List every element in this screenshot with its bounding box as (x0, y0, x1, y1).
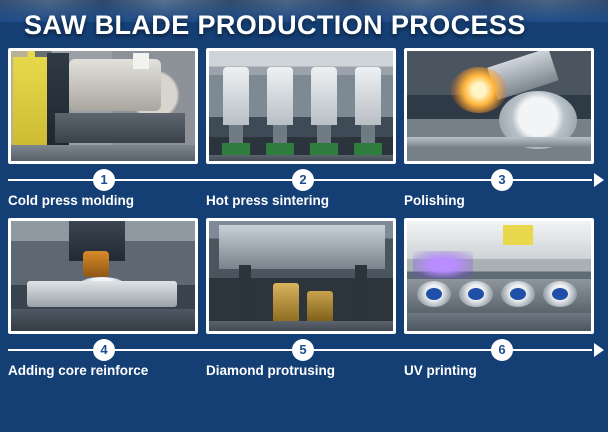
page-title: SAW BLADE PRODUCTION PROCESS (24, 10, 526, 40)
step-cell-6 (404, 218, 594, 334)
polishing-photo (404, 48, 594, 164)
step-cell-4 (8, 218, 198, 334)
step-label-4: Adding core reinforce (8, 363, 198, 378)
arrow-head-icon (594, 173, 604, 187)
step-label-1: Cold press molding (8, 193, 198, 208)
step-number-2: 2 (292, 169, 314, 191)
adding-core-reinforce-photo (8, 218, 198, 334)
step-cell-5 (206, 218, 396, 334)
diamond-protrusing-photo (206, 218, 396, 334)
arrow-head-icon (594, 343, 604, 357)
uv-printing-photo (404, 218, 594, 334)
process-arrow-row-2: 4 5 6 (0, 339, 608, 361)
process-arrow-row-1: 1 2 3 (0, 169, 608, 191)
step-number-1: 1 (93, 169, 115, 191)
label-row-1: Cold press molding Hot press sintering P… (0, 191, 608, 208)
step-label-cell-6: UV printing (404, 361, 594, 378)
photo-row-2 (0, 218, 608, 334)
step-number-5: 5 (292, 339, 314, 361)
step-label-cell-4: Adding core reinforce (8, 361, 198, 378)
step-number-4: 4 (93, 339, 115, 361)
step-number-6: 6 (491, 339, 513, 361)
step-label-cell-5: Diamond protrusing (206, 361, 396, 378)
process-grid: 1 2 3 Cold press molding Hot press sinte… (0, 48, 608, 378)
hot-press-sintering-photo (206, 48, 396, 164)
step-label-3: Polishing (404, 193, 594, 208)
step-label-6: UV printing (404, 363, 594, 378)
step-label-cell-3: Polishing (404, 191, 594, 208)
step-label-cell-1: Cold press molding (8, 191, 198, 208)
step-cell-3 (404, 48, 594, 164)
step-cell-1 (8, 48, 198, 164)
step-label-5: Diamond protrusing (206, 363, 396, 378)
step-number-3: 3 (491, 169, 513, 191)
infographic-board: SAW BLADE PRODUCTION PROCESS (0, 0, 608, 432)
step-label-cell-2: Hot press sintering (206, 191, 396, 208)
photo-row-1 (0, 48, 608, 164)
label-row-2: Adding core reinforce Diamond protrusing… (0, 361, 608, 378)
step-label-2: Hot press sintering (206, 193, 396, 208)
step-cell-2 (206, 48, 396, 164)
cold-press-molding-photo (8, 48, 198, 164)
